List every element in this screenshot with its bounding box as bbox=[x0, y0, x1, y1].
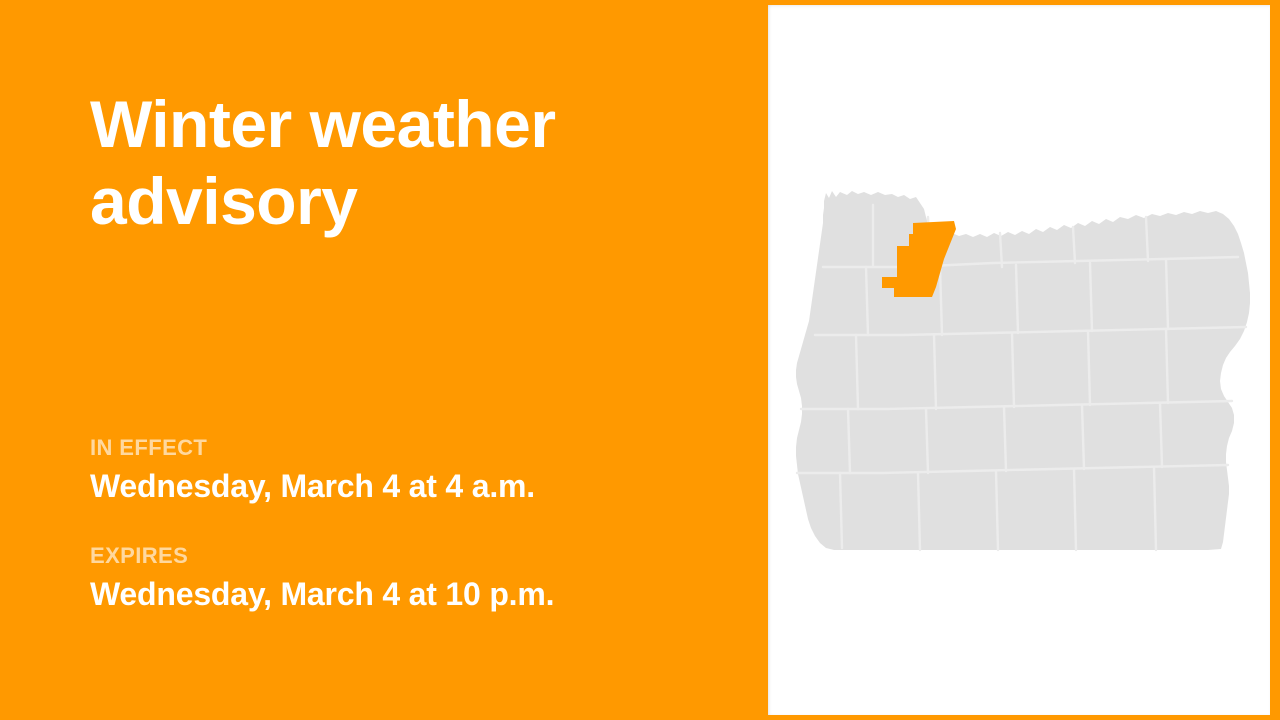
in-effect-value: Wednesday, March 4 at 4 a.m. bbox=[90, 467, 730, 505]
expires-group: EXPIRES Wednesday, March 4 at 10 p.m. bbox=[90, 544, 730, 614]
in-effect-group: IN EFFECT Wednesday, March 4 at 4 a.m. bbox=[90, 436, 730, 506]
expires-label: EXPIRES bbox=[90, 544, 730, 568]
alert-map-panel bbox=[768, 5, 1270, 715]
weather-alert-card: Winter weather advisory IN EFFECT Wednes… bbox=[0, 0, 1280, 720]
in-effect-label: IN EFFECT bbox=[90, 436, 730, 460]
alert-timing-block: IN EFFECT Wednesday, March 4 at 4 a.m. E… bbox=[90, 436, 730, 613]
state-outline-group bbox=[796, 191, 1250, 550]
oregon-state-shape bbox=[796, 191, 1250, 550]
expires-value: Wednesday, March 4 at 10 p.m. bbox=[90, 575, 730, 613]
oregon-state-map bbox=[768, 5, 1270, 715]
page-title: Winter weather advisory bbox=[90, 86, 710, 240]
alert-text-panel: Winter weather advisory IN EFFECT Wednes… bbox=[0, 0, 768, 720]
